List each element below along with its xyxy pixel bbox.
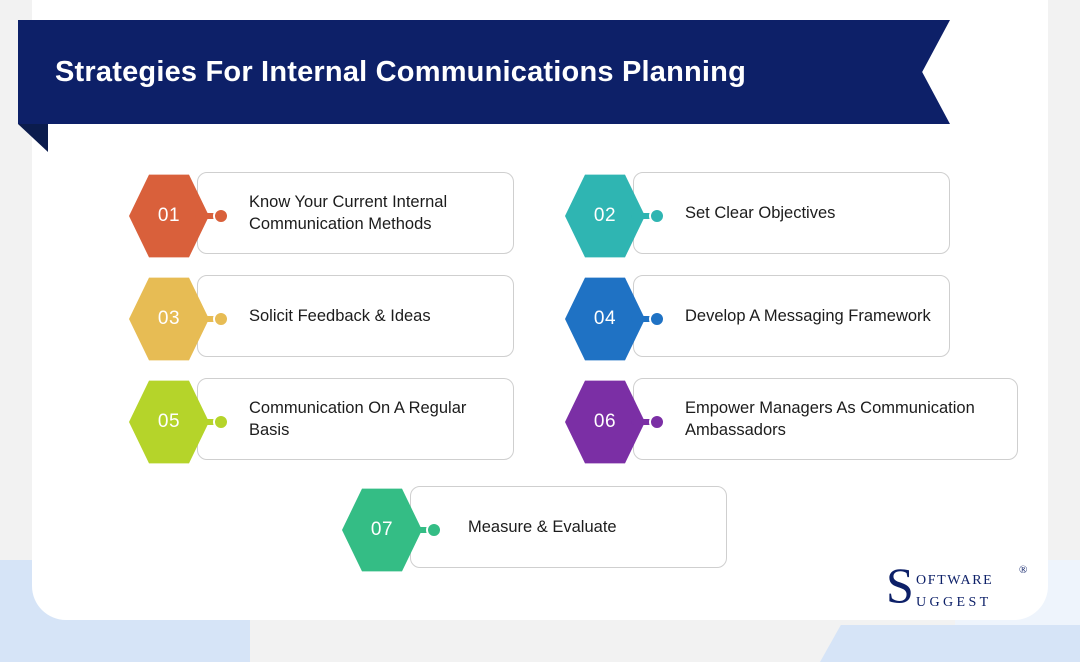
step-item-05[interactable]: 05 Communication On A Regular Basis — [129, 378, 514, 466]
step-item-04[interactable]: 04 Develop A Messaging Framework — [565, 275, 950, 363]
step-item-01[interactable]: 01 Know Your Current Internal Communicat… — [129, 172, 514, 260]
step-connector-dot — [213, 311, 229, 327]
decor-band-bottom-middle — [0, 628, 250, 662]
step-label: Set Clear Objectives — [685, 172, 947, 254]
steps-list: 01 Know Your Current Internal Communicat… — [0, 0, 1080, 620]
logo-initial: S — [886, 560, 914, 610]
logo-word-bottom: uggest — [916, 589, 992, 612]
step-label: Know Your Current Internal Communication… — [249, 172, 511, 254]
step-connector-dot — [649, 311, 665, 327]
step-connector-dot — [649, 414, 665, 430]
step-connector-dot — [213, 414, 229, 430]
step-item-06[interactable]: 06 Empower Managers As Communication Amb… — [565, 378, 950, 466]
step-number: 03 — [158, 308, 180, 330]
step-label: Communication On A Regular Basis — [249, 378, 511, 460]
step-number: 02 — [594, 205, 616, 227]
step-connector-dot — [649, 208, 665, 224]
step-item-03[interactable]: 03 Solicit Feedback & Ideas — [129, 275, 514, 363]
step-label: Solicit Feedback & Ideas — [249, 275, 511, 357]
step-connector-dot — [213, 208, 229, 224]
step-item-07[interactable]: 07 Measure & Evaluate — [342, 486, 727, 574]
step-label: Empower Managers As Communication Ambass… — [685, 378, 1015, 460]
step-number: 07 — [371, 519, 393, 541]
step-connector-dot — [426, 522, 442, 538]
brand-logo[interactable]: S oftware ® uggest — [886, 562, 1038, 610]
step-number: 04 — [594, 308, 616, 330]
decor-band-right — [820, 625, 1080, 662]
logo-word-top: oftware — [916, 567, 993, 590]
step-label: Measure & Evaluate — [468, 486, 730, 568]
step-number: 05 — [158, 411, 180, 433]
step-label: Develop A Messaging Framework — [685, 275, 947, 357]
step-item-02[interactable]: 02 Set Clear Objectives — [565, 172, 950, 260]
registered-trademark-icon: ® — [1019, 564, 1027, 576]
step-number: 06 — [594, 411, 616, 433]
step-number: 01 — [158, 205, 180, 227]
